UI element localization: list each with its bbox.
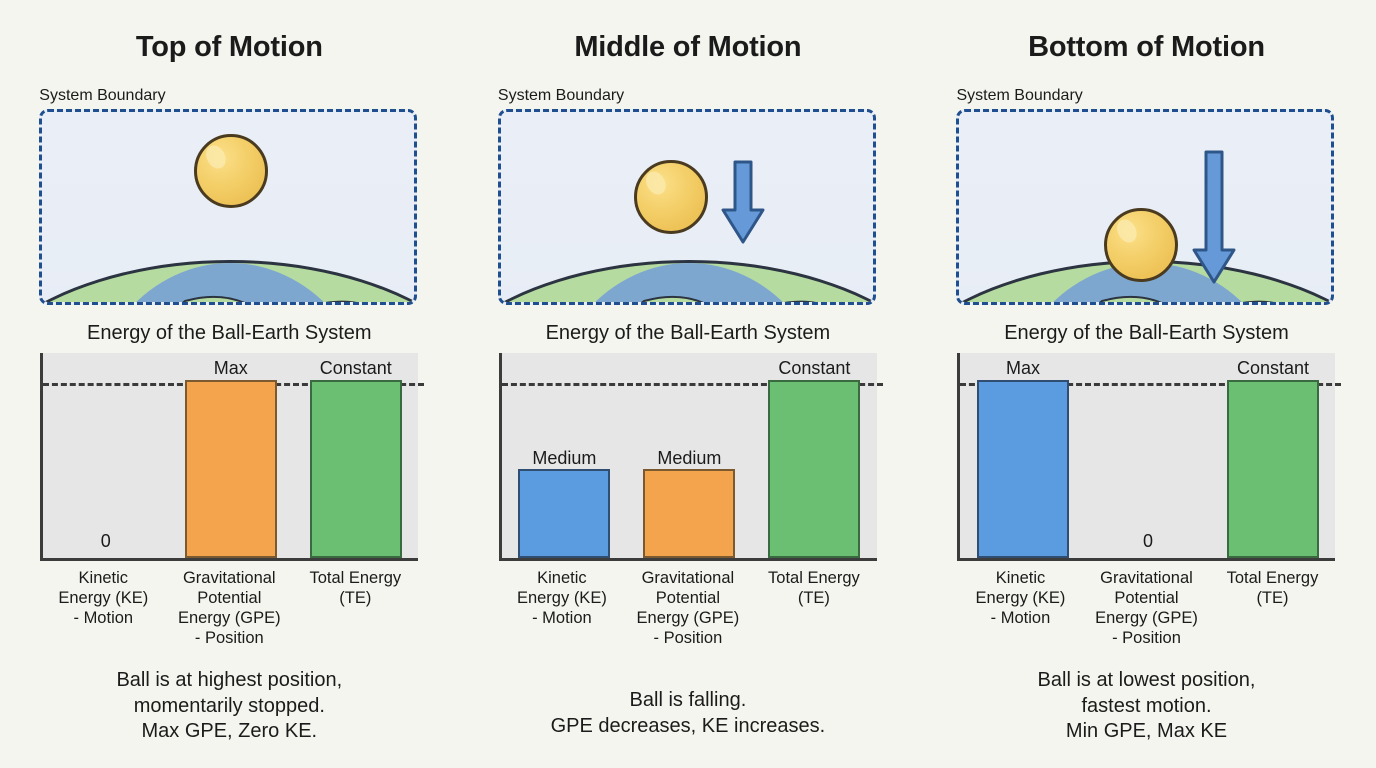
earth-illustration — [498, 260, 876, 305]
panel-caption: Ball is at highest position, momentarily… — [29, 668, 429, 745]
axis-label-te: Total Energy (TE) — [755, 568, 873, 649]
ke-value-label: Max — [1006, 359, 1040, 377]
gpe-value-label: 0 — [1143, 532, 1153, 550]
ke-bar — [977, 380, 1069, 558]
panel-caption: Ball is at lowest position, fastest moti… — [946, 668, 1346, 745]
earth-continents — [39, 263, 417, 305]
chart-title: Energy of the Ball-Earth System — [87, 323, 372, 343]
system-boundary-box — [498, 109, 876, 305]
bar-group: 0 Max Constant — [43, 353, 418, 558]
bar-column-gpe: Max — [179, 353, 283, 558]
ke-bar — [518, 469, 610, 558]
panel-caption: Ball is falling. GPE decreases, KE incre… — [488, 688, 888, 739]
panel-top-of-motion: Top of Motion System Boundary — [0, 0, 459, 768]
axis-label-ke: Kinetic Energy (KE) - Motion — [961, 568, 1079, 649]
gpe-bar — [185, 380, 277, 558]
axis-label-row: Kinetic Energy (KE) - Motion Gravitation… — [40, 568, 418, 649]
bar-group: Medium Medium Constant — [502, 353, 877, 558]
chart-title: Energy of the Ball-Earth System — [1004, 323, 1289, 343]
system-boundary-label: System Boundary — [956, 87, 1336, 105]
axis-label-ke: Kinetic Energy (KE) - Motion — [503, 568, 621, 649]
bar-column-gpe: Medium — [637, 353, 741, 558]
te-bar — [1227, 380, 1319, 558]
bar-column-ke: 0 — [54, 353, 158, 558]
ke-value-label: Medium — [532, 449, 596, 467]
axis-label-te: Total Energy (TE) — [1213, 568, 1331, 649]
gpe-bar — [643, 469, 735, 558]
axis-label-row: Kinetic Energy (KE) - Motion Gravitation… — [499, 568, 877, 649]
ball — [634, 160, 708, 234]
panel-bottom-of-motion: Bottom of Motion System Boundary — [917, 0, 1376, 768]
ball — [194, 134, 268, 208]
earth-continents — [498, 263, 876, 305]
axis-label-ke: Kinetic Energy (KE) - Motion — [44, 568, 162, 649]
panel-middle-of-motion: Middle of Motion System Boundary — [459, 0, 918, 768]
energy-bar-chart: Medium Medium Constant — [499, 353, 877, 561]
te-value-label: Constant — [320, 359, 392, 377]
bar-group: Max 0 Constant — [960, 353, 1335, 558]
energy-bar-chart: Max 0 Constant — [957, 353, 1335, 561]
bar-column-gpe: 0 — [1096, 353, 1200, 558]
bar-column-te: Constant — [1221, 353, 1325, 558]
bar-column-ke: Max — [971, 353, 1075, 558]
ke-value-label: 0 — [101, 532, 111, 550]
system-boundary-box — [956, 109, 1334, 305]
bar-column-te: Constant — [304, 353, 408, 558]
te-bar — [768, 380, 860, 558]
energy-bar-chart: 0 Max Constant — [40, 353, 418, 561]
ball — [1104, 208, 1178, 282]
axis-label-te: Total Energy (TE) — [296, 568, 414, 649]
gpe-value-label: Max — [214, 359, 248, 377]
energy-conservation-diagram: Top of Motion System Boundary — [0, 0, 1376, 768]
panel-title: Middle of Motion — [574, 33, 801, 62]
panel-title: Top of Motion — [136, 33, 323, 62]
scene-wrapper: System Boundary — [498, 87, 878, 305]
te-bar — [310, 380, 402, 558]
system-boundary-box — [39, 109, 417, 305]
axis-label-gpe: Gravitational Potential Energy (GPE) - P… — [629, 568, 747, 649]
axis-label-gpe: Gravitational Potential Energy (GPE) - P… — [170, 568, 288, 649]
axis-label-gpe: Gravitational Potential Energy (GPE) - P… — [1087, 568, 1205, 649]
downward-motion-arrow-icon — [1191, 150, 1237, 286]
chart-title: Energy of the Ball-Earth System — [546, 323, 831, 343]
system-boundary-label: System Boundary — [39, 87, 419, 105]
gpe-value-label: Medium — [657, 449, 721, 467]
scene-wrapper: System Boundary — [956, 87, 1336, 305]
downward-motion-arrow-icon — [720, 160, 766, 246]
scene-wrapper: System Boundary — [39, 87, 419, 305]
axis-label-row: Kinetic Energy (KE) - Motion Gravitation… — [957, 568, 1335, 649]
te-value-label: Constant — [778, 359, 850, 377]
system-boundary-label: System Boundary — [498, 87, 878, 105]
te-value-label: Constant — [1237, 359, 1309, 377]
panel-title: Bottom of Motion — [1028, 33, 1265, 62]
bar-column-ke: Medium — [512, 353, 616, 558]
earth-illustration — [39, 260, 417, 305]
bar-column-te: Constant — [762, 353, 866, 558]
